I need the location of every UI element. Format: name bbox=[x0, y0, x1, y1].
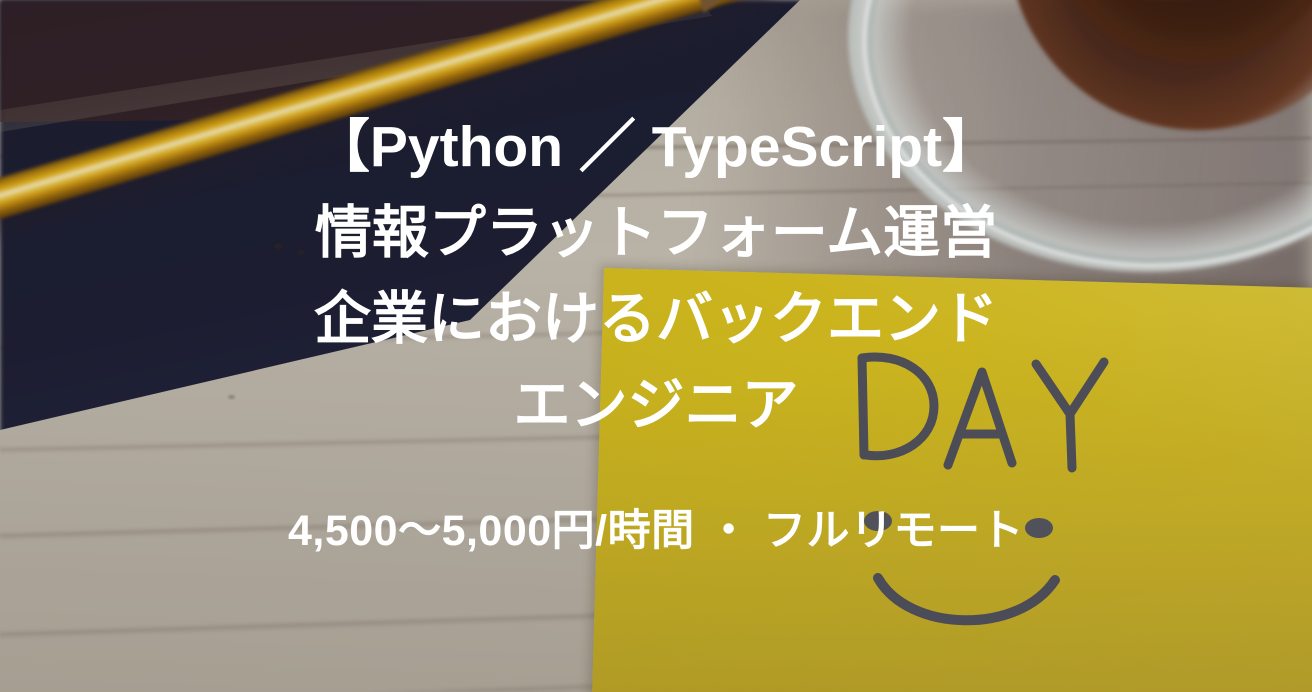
banner-subtitle: 4,500〜5,000円/時間 ・ フルリモート bbox=[288, 448, 1024, 558]
banner-text-block: 【Python ／ TypeScript】情報プラットフォーム運営企業におけるバ… bbox=[0, 0, 1312, 692]
banner-title: 【Python ／ TypeScript】情報プラットフォーム運営企業におけるバ… bbox=[306, 0, 1006, 448]
banner-image: 【Python ／ TypeScript】情報プラットフォーム運営企業におけるバ… bbox=[0, 0, 1312, 692]
